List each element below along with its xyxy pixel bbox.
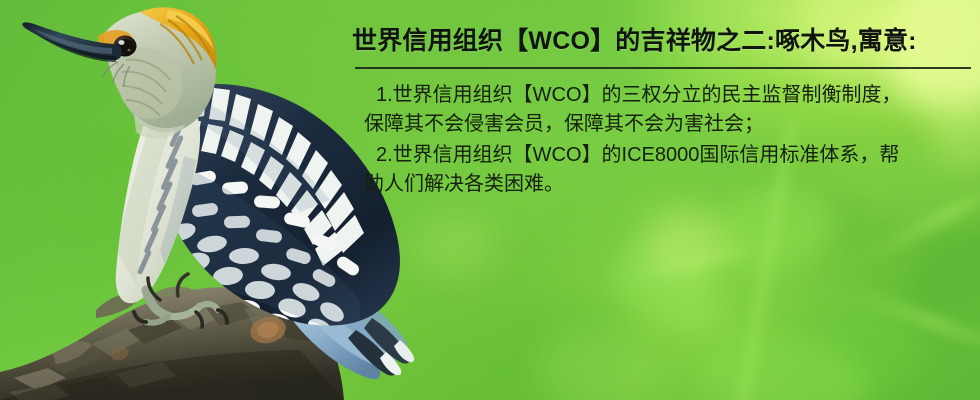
text-panel: 世界信用组织【WCO】的吉祥物之二:啄木鸟,寓意: 1.世界信用组织【WCO】的… [352,26,976,201]
list-item-line: 保障其不会侵害会员，保障其不会为害社会； [364,110,976,139]
background-bokeh-highlight [642,210,728,276]
title-divider [355,67,971,69]
list-item: 1.世界信用组织【WCO】的三权分立的民主监督制衡制度， 保障其不会侵害会员，保… [352,81,976,139]
list-item-line: 2.世界信用组织【WCO】的ICE8000国际信用标准体系，帮 [364,141,976,170]
wco-mascot-banner: 世界信用组织【WCO】的吉祥物之二:啄木鸟,寓意: 1.世界信用组织【WCO】的… [0,0,980,400]
background-bokeh-highlight [540,330,660,400]
list-item-line: 助人们解决各类困难。 [364,170,976,199]
woodpecker-head [22,7,216,139]
page-title: 世界信用组织【WCO】的吉祥物之二:啄木鸟,寓意: [352,26,976,57]
list-item-line: 1.世界信用组织【WCO】的三权分立的民主监督制衡制度， [364,81,976,110]
list-item: 2.世界信用组织【WCO】的ICE8000国际信用标准体系，帮 助人们解决各类困… [352,141,976,199]
description-list: 1.世界信用组织【WCO】的三权分立的民主监督制衡制度， 保障其不会侵害会员，保… [352,81,976,199]
